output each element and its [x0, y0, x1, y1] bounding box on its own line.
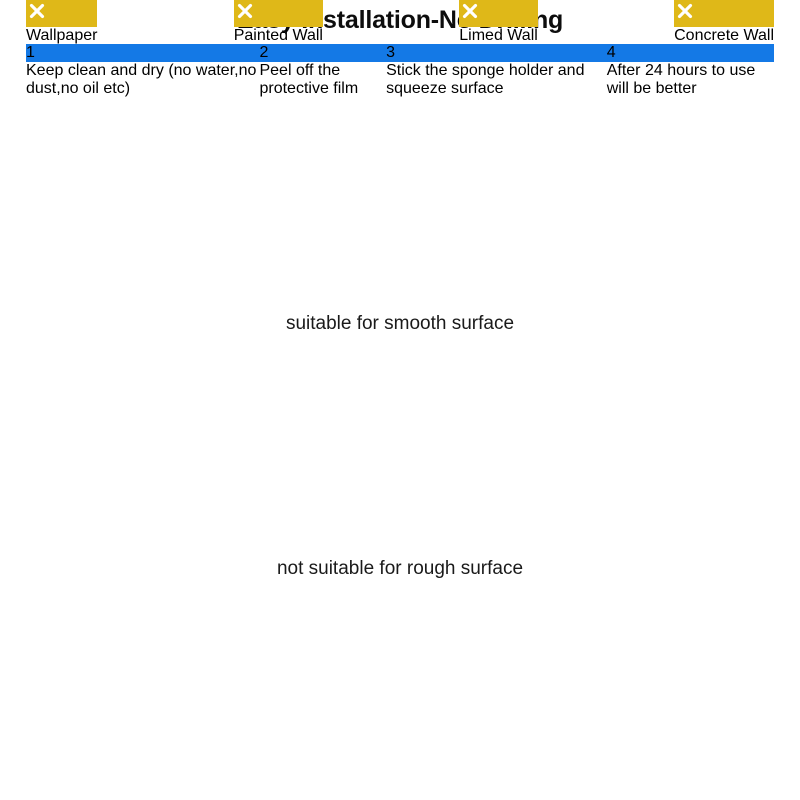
step-caption-4: After 24 hours to use will be better	[607, 62, 774, 98]
badge-number: 2	[259, 44, 268, 61]
step-badge-3: 3	[386, 44, 607, 62]
surface-card-painted-wall[interactable]: Painted Wall	[234, 0, 323, 45]
step-badge-4: 4	[607, 44, 774, 62]
caption-line-1: Limed Wall	[459, 27, 538, 44]
section-heading-rough: not suitable for rough surface	[0, 554, 800, 584]
caption-line-1: Peel off the protective film	[259, 62, 358, 97]
close-icon	[674, 0, 696, 22]
surface-caption: Limed Wall	[459, 27, 538, 45]
caption-line-1: Stick the sponge holder	[386, 62, 553, 79]
caption-line-1: Painted Wall	[234, 27, 323, 44]
surface-card-concrete-wall[interactable]: Concrete Wall	[674, 0, 774, 45]
badge-number: 1	[26, 44, 35, 61]
badge-number: 4	[607, 44, 616, 61]
section-heading-smooth: suitable for smooth surface	[0, 309, 800, 339]
infographic-page: Easy Installation-No Drilling 1	[0, 0, 800, 800]
step-caption-2: Peel off the protective film	[259, 62, 386, 98]
close-icon	[459, 0, 481, 22]
surface-caption: Painted Wall	[234, 27, 323, 45]
step-badge-2: 2	[259, 44, 386, 62]
step-caption-3: Stick the sponge holder and squeeze surf…	[386, 62, 607, 98]
close-icon	[26, 0, 48, 22]
step-card-2[interactable]: 2 Peel off the protective film	[259, 44, 386, 294]
surface-card-wallpaper[interactable]: Wallpaper	[26, 0, 97, 45]
cross-badge	[234, 0, 323, 27]
cross-badge	[459, 0, 538, 27]
step-card-1[interactable]: 1 Keep clean and dry (no water,no dust,n…	[26, 44, 259, 294]
step-badge-1: 1	[26, 44, 259, 62]
caption-line-1: Concrete Wall	[674, 27, 774, 44]
caption-line-2: will be better	[607, 80, 697, 97]
rough-surfaces-row: Wallpaper Painted Wall	[26, 0, 774, 45]
cross-badge	[26, 0, 97, 27]
caption-line-1: After 24 hours to use	[607, 62, 756, 79]
caption-line-1: Keep clean and dry	[26, 62, 164, 79]
surface-caption: Wallpaper	[26, 27, 97, 45]
close-icon	[234, 0, 256, 22]
surface-caption: Concrete Wall	[674, 27, 774, 45]
step-card-3[interactable]: 3 Stick the sponge holder and squeeze su…	[386, 44, 607, 294]
caption-line-1: Wallpaper	[26, 27, 97, 44]
step-caption-1: Keep clean and dry (no water,no dust,no …	[26, 62, 259, 98]
badge-number: 3	[386, 44, 395, 61]
cross-badge	[674, 0, 774, 27]
installation-steps-row: 1 Keep clean and dry (no water,no dust,n…	[26, 44, 774, 294]
surface-card-limed-wall[interactable]: Limed Wall	[459, 0, 538, 45]
step-card-4[interactable]: 4 After 24 hours to use will be better	[607, 44, 774, 294]
